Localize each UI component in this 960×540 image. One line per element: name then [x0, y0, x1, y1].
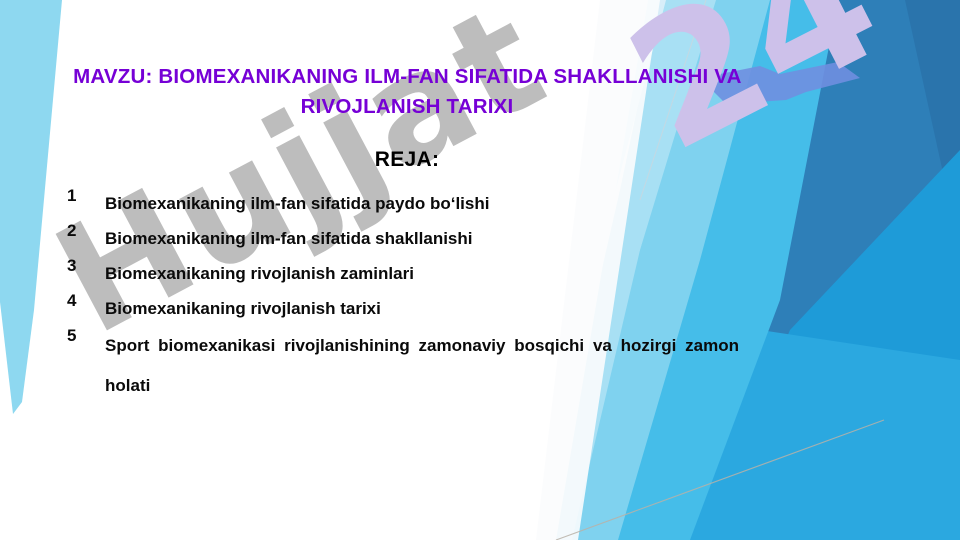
list-item-label: Sport biomexanikasi rivojlanishining zam…	[105, 326, 739, 406]
list-item: 1 Biomexanikaning ilm-fan sifatida paydo…	[62, 186, 762, 221]
list-item-label: Biomexanikaning rivojlanish zaminlari	[105, 256, 762, 291]
title-line-2: RIVOJLANISH TARIXI	[301, 95, 514, 118]
agenda-heading: REJA:	[62, 148, 752, 172]
list-item: 4 Biomexanikaning rivojlanish tarixi	[62, 291, 762, 326]
list-item-number: 1	[67, 186, 85, 206]
list-item-number: 2	[67, 221, 85, 241]
slide-content: MAVZU: BIOMEXANIKANING ILM-FAN SIFATIDA …	[0, 0, 960, 540]
presentation-slide: Hujjat 24 MAVZU: BIOMEXANIKANING ILM-FAN…	[0, 0, 960, 540]
list-item-number: 3	[67, 256, 85, 276]
list-item: 3 Biomexanikaning rivojlanish zaminlari	[62, 256, 762, 291]
list-item: 5 Sport biomexanikasi rivojlanishining z…	[62, 326, 762, 406]
list-item-label: Biomexanikaning ilm-fan sifatida paydo b…	[105, 186, 762, 221]
agenda-list: 1 Biomexanikaning ilm-fan sifatida paydo…	[62, 186, 762, 406]
title-line-1: MAVZU: BIOMEXANIKANING ILM-FAN SIFATIDA …	[73, 65, 741, 88]
list-item: 2 Biomexanikaning ilm-fan sifatida shakl…	[62, 221, 762, 256]
list-item-number: 4	[67, 291, 85, 311]
page-title: MAVZU: BIOMEXANIKANING ILM-FAN SIFATIDA …	[62, 62, 752, 122]
list-item-label: Biomexanikaning ilm-fan sifatida shaklla…	[105, 221, 762, 256]
list-item-number: 5	[67, 326, 85, 346]
list-item-label: Biomexanikaning rivojlanish tarixi	[105, 291, 762, 326]
